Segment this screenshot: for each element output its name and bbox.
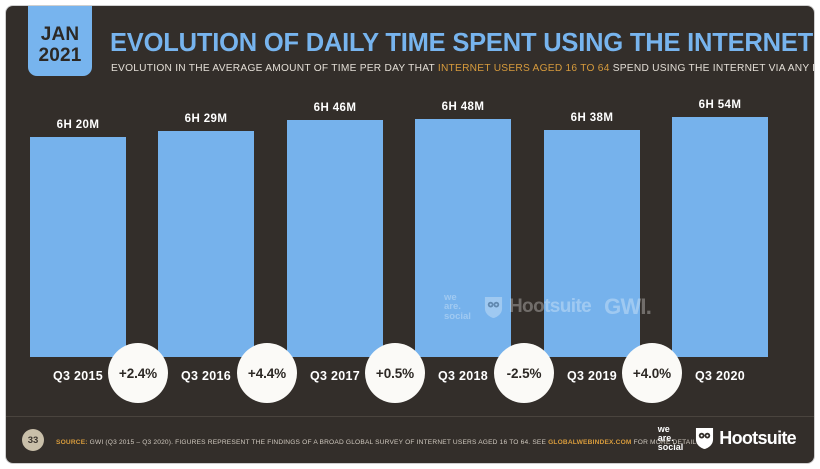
bar-q3-2016[interactable]: [158, 131, 254, 357]
we-are-social-footer-logo: we are. social: [658, 425, 684, 452]
source-text-part-1: GWI (Q3 2015 – Q3 2020). FIGURES REPRESE…: [88, 439, 548, 446]
hootsuite-footer-text: Hootsuite: [719, 428, 796, 449]
bar-value-label: 6H 29M: [158, 113, 254, 125]
category-label-q3-2015: Q3 2015: [30, 369, 126, 383]
source-link[interactable]: GLOBALWEBINDEX.COM: [548, 439, 631, 446]
bar-value-label: 6H 38M: [544, 112, 640, 124]
slide-frame: JAN 2021 EVOLUTION OF DAILY TIME SPENT U…: [0, 0, 820, 469]
bar-chart: 6H 20M 6H 29M 6H 46M 6H 48M 6H 38M 6H 54…: [6, 6, 814, 463]
bar-q3-2018[interactable]: [415, 119, 511, 357]
category-label-q3-2017: Q3 2017: [287, 369, 383, 383]
bar-value-label: 6H 48M: [415, 101, 511, 113]
footer-logos: we are. social Hootsuite: [658, 425, 796, 452]
hootsuite-footer-logo: Hootsuite: [695, 427, 796, 450]
category-label-q3-2018: Q3 2018: [415, 369, 511, 383]
category-label-q3-2019: Q3 2019: [544, 369, 640, 383]
bar-q3-2019[interactable]: [544, 130, 640, 357]
infographic-canvas: JAN 2021 EVOLUTION OF DAILY TIME SPENT U…: [6, 6, 814, 463]
bar-value-label: 6H 54M: [672, 99, 768, 111]
bar-q3-2017[interactable]: [287, 120, 383, 357]
source-label: SOURCE:: [56, 439, 88, 446]
bar-q3-2015[interactable]: [30, 137, 126, 357]
bar-q3-2020[interactable]: [672, 117, 768, 357]
category-label-q3-2016: Q3 2016: [158, 369, 254, 383]
hootsuite-owl-shield-icon: [695, 427, 714, 450]
source-note: SOURCE: GWI (Q3 2015 – Q3 2020). FIGURES…: [56, 439, 703, 446]
bar-value-label: 6H 46M: [287, 102, 383, 114]
bar-value-label: 6H 20M: [30, 119, 126, 131]
we-are-social-footer-line-3: social: [658, 443, 684, 452]
footer-divider: [6, 416, 814, 417]
category-label-q3-2020: Q3 2020: [672, 369, 768, 383]
page-number-badge: 33: [22, 429, 44, 451]
